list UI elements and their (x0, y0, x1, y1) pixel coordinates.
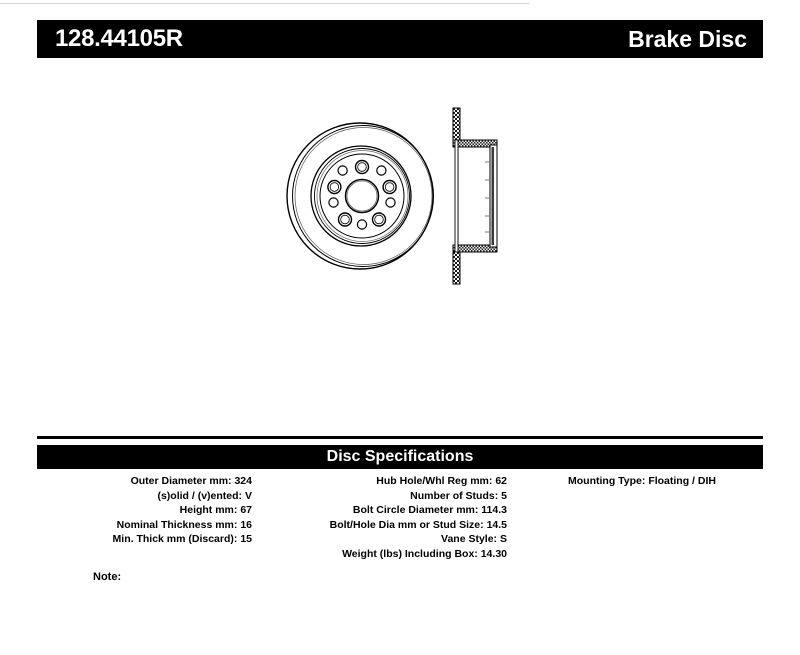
brake-disc-technical-illustration (285, 100, 515, 295)
note-value (121, 571, 125, 583)
specifications-column-left: Outer Diameter mm: 324 (s)olid / (v)ente… (37, 474, 252, 547)
spec-value: 14.30 (481, 548, 507, 560)
specifications-table: Outer Diameter mm: 324 (s)olid / (v)ente… (37, 474, 777, 561)
note-area: Note: (93, 571, 125, 583)
specifications-column-middle: Hub Hole/Whl Reg mm: 62 Number of Studs:… (252, 474, 507, 561)
spec-label: Bolt Circle Diameter mm: (353, 504, 478, 516)
specifications-column-right: Mounting Type: Floating / DIH (507, 474, 767, 489)
spec-value: 324 (234, 475, 252, 487)
spec-value: Floating / DIH (648, 475, 716, 487)
spec-value: 67 (240, 504, 252, 516)
specifications-header-bar: Disc Specifications (37, 445, 763, 469)
spec-label: Height mm: (180, 504, 238, 516)
disc-side-view (453, 108, 497, 284)
spec-value: 14.5 (487, 519, 507, 531)
spec-row: Nominal Thickness mm: 16 (37, 518, 252, 533)
spec-row: (s)olid / (v)ented: V (37, 489, 252, 504)
part-number-label: 128.44105R (55, 27, 183, 51)
spec-row: Mounting Type: Floating / DIH (517, 474, 767, 489)
specifications-divider (37, 436, 763, 439)
spec-row: Weight (lbs) Including Box: 14.30 (260, 547, 507, 562)
spec-row: Height mm: 67 (37, 503, 252, 518)
spec-label: Bolt/Hole Dia mm or Stud Size: (330, 519, 484, 531)
spec-label: Nominal Thickness mm: (117, 519, 238, 531)
spec-row: Outer Diameter mm: 324 (37, 474, 252, 489)
spec-value: V (245, 490, 252, 502)
product-type-title: Brake Disc (628, 28, 747, 51)
product-spec-sheet: 128.44105R Brake Disc (0, 0, 800, 655)
spec-label: Min. Thick mm (Discard): (113, 533, 238, 545)
spec-row: Bolt Circle Diameter mm: 114.3 (260, 503, 507, 518)
spec-row: Hub Hole/Whl Reg mm: 62 (260, 474, 507, 489)
brake-disc-drawing (285, 100, 515, 295)
spec-value: 114.3 (481, 504, 507, 516)
note-label: Note: (93, 571, 121, 583)
specifications-title: Disc Specifications (327, 449, 474, 465)
spec-row: Vane Style: S (260, 532, 507, 547)
spec-label: Vane Style: (441, 533, 497, 545)
spec-row: Bolt/Hole Dia mm or Stud Size: 14.5 (260, 518, 507, 533)
spec-row: Number of Studs: 5 (260, 489, 507, 504)
spec-label: Hub Hole/Whl Reg mm: (376, 475, 492, 487)
spec-label: (s)olid / (v)ented: (157, 490, 242, 502)
top-divider-rule (0, 3, 530, 4)
spec-label: Number of Studs: (410, 490, 498, 502)
spec-label: Weight (lbs) Including Box: (342, 548, 478, 560)
disc-face-view (287, 123, 434, 269)
header-bar: 128.44105R Brake Disc (37, 20, 763, 58)
spec-value: 62 (495, 475, 507, 487)
spec-value: 16 (240, 519, 252, 531)
spec-label: Mounting Type: (568, 475, 645, 487)
spec-label: Outer Diameter mm: (131, 475, 232, 487)
spec-value: 15 (240, 533, 252, 545)
spec-row: Min. Thick mm (Discard): 15 (37, 532, 252, 547)
spec-value: S (500, 533, 507, 545)
spec-value: 5 (501, 490, 507, 502)
